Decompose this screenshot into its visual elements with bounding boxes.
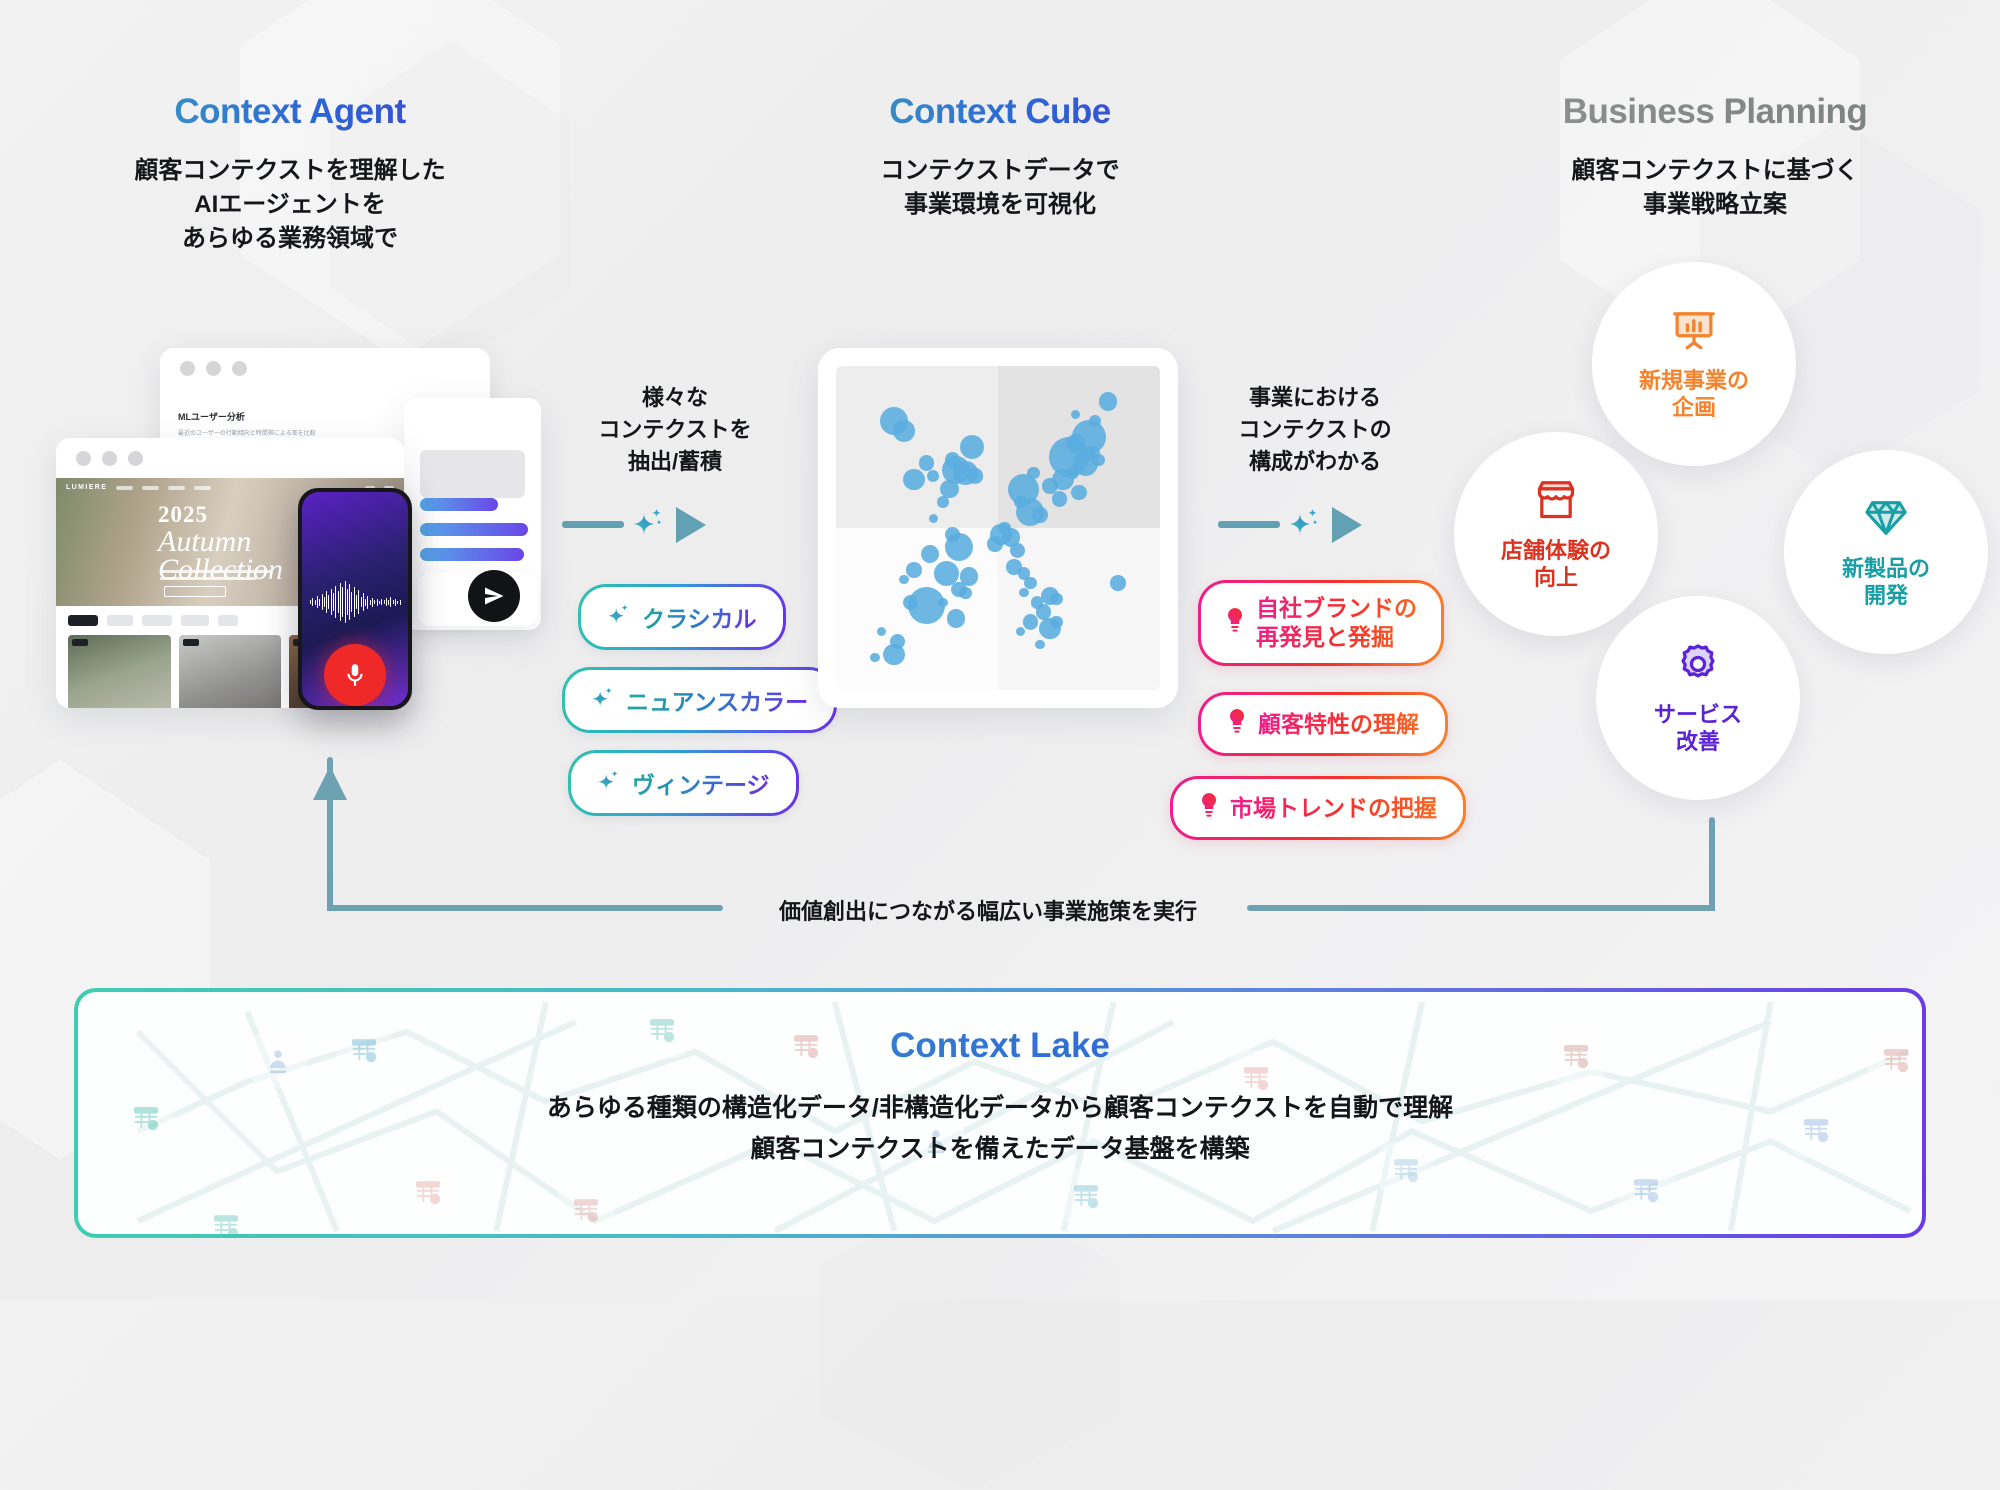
hero-cta-button[interactable]: [164, 586, 226, 597]
scatter-bubble: [1035, 640, 1044, 649]
scatter-bubble: [1039, 618, 1061, 640]
insight-tag-label: 自社ブランドの 再発見と発掘: [1256, 594, 1417, 652]
context-tag-label: クラシカル: [642, 600, 757, 634]
microphone-icon[interactable]: [324, 644, 386, 706]
outcome-circle-new-business-planning[interactable]: 新規事業の 企画: [1592, 262, 1796, 466]
context-tag-label: ニュアンスカラー: [626, 683, 808, 717]
product-badge: [72, 639, 88, 646]
nav-item[interactable]: [194, 486, 211, 490]
scatter-bubble: [938, 598, 947, 607]
feedback-arrow-head: [313, 766, 347, 800]
network-node-table-icon: [400, 1164, 456, 1220]
arrow-label-cube-to-planning: 事業における コンテクストの 構成がわかる: [1200, 382, 1430, 478]
insight-tag-label: 顧客特性の理解: [1258, 710, 1419, 739]
lightbulb-icon: [1227, 708, 1247, 740]
gear-icon: [1675, 641, 1721, 693]
context-lake-subtitle: あらゆる種類の構造化データ/非構造化データから顧客コンテクストを自動で理解 顧客…: [78, 1088, 1922, 1169]
scatter-bubble: [1032, 507, 1048, 523]
traffic-light-close-icon: [76, 451, 91, 466]
scatter-bubble: [1019, 588, 1028, 597]
bubble-scatter-chart: [836, 366, 1160, 690]
traffic-light-maximize-icon: [128, 451, 143, 466]
column-header-context-cube: Context Cube コンテクストデータで 事業環境を可視化: [790, 92, 1210, 222]
diamond-icon: [1863, 495, 1909, 547]
product-card[interactable]: [68, 635, 171, 708]
tab-category[interactable]: [107, 615, 133, 626]
outcome-circle-label: サービス 改善: [1654, 701, 1742, 756]
product-badge: [183, 639, 199, 646]
column-subtitle-context-cube: コンテクストデータで 事業環境を可視化: [790, 154, 1210, 222]
presentation-chart-icon: [1671, 307, 1717, 359]
chat-placeholder-block: [420, 450, 525, 498]
network-node-table-icon: [198, 1198, 254, 1238]
context-tag-0[interactable]: クラシカル: [578, 584, 786, 650]
sparkle-icon: [607, 602, 631, 632]
outcome-circle-label: 新規事業の 企画: [1639, 367, 1749, 422]
scatter-bubble: [987, 536, 1003, 552]
network-node-table-icon: [558, 1182, 614, 1238]
arrow-cube-to-planning: [1218, 505, 1362, 544]
scatter-bubble: [1066, 434, 1085, 453]
feedback-loop-label: 価値創出につながる幅広い事業施策を実行: [748, 894, 1228, 926]
scatter-bubble: [883, 644, 905, 666]
scatter-bubble: [1023, 614, 1039, 630]
outcome-circle-label: 店舗体験の 向上: [1501, 537, 1611, 592]
scatter-bubble: [893, 420, 915, 442]
traffic-light-minimize-icon: [206, 361, 221, 376]
scatter-bubble: [870, 653, 879, 662]
outcome-circle-store-experience[interactable]: 店舗体験の 向上: [1454, 432, 1658, 636]
column-header-context-agent: Context Agent 顧客コンテクストを理解した AIエージェントを あら…: [80, 92, 500, 256]
scatter-bubble: [929, 514, 938, 523]
window-titlebar: [56, 438, 404, 478]
insight-tag-label: 市場トレンドの把握: [1230, 794, 1437, 823]
product-card[interactable]: [179, 635, 282, 708]
arrow-shaft: [562, 521, 624, 528]
sparkle-icon: [631, 505, 665, 544]
insight-tag-2[interactable]: 市場トレンドの把握: [1170, 776, 1466, 840]
sparkle-icon: [591, 685, 615, 715]
arrow-head: [1332, 507, 1362, 543]
nav-item[interactable]: [142, 486, 159, 490]
phone-screen: [302, 492, 408, 706]
voice-assistant-phone-mock: [298, 488, 412, 710]
lightbulb-icon: [1225, 607, 1245, 639]
send-icon[interactable]: [468, 570, 520, 622]
page-title-context-cube: Context Cube: [790, 92, 1210, 132]
context-cube-card: [818, 348, 1178, 708]
scatter-bubble: [1052, 491, 1068, 507]
tab-category[interactable]: [142, 615, 172, 626]
page-title-business-planning: Business Planning: [1495, 92, 1935, 132]
tab-category[interactable]: [218, 615, 238, 626]
scatter-bubble: [959, 587, 971, 599]
network-node-table-icon: [1618, 1162, 1674, 1218]
sparkle-icon: [597, 768, 621, 798]
window-titlebar: [160, 348, 490, 388]
insight-tag-0[interactable]: 自社ブランドの 再発見と発掘: [1198, 580, 1444, 666]
scatter-bubble: [1027, 467, 1039, 479]
scatter-bubble: [998, 522, 1010, 534]
outcome-circle-service-improvement[interactable]: サービス 改善: [1596, 596, 1800, 800]
context-lake-panel: Context Lake あらゆる種類の構造化データ/非構造化データから顧客コン…: [74, 988, 1926, 1238]
arrow-head: [676, 507, 706, 543]
scatter-bubble: [1110, 575, 1126, 591]
traffic-light-minimize-icon: [102, 451, 117, 466]
scatter-bubble: [1092, 454, 1104, 466]
traffic-light-maximize-icon: [232, 361, 247, 376]
arrow-agent-to-cube: [562, 505, 706, 544]
arrow-label-agent-to-cube: 様々な コンテクストを 抽出/蓄積: [560, 382, 790, 478]
scatter-bubble: [1050, 593, 1062, 605]
network-node-table-icon: [1058, 1168, 1114, 1224]
context-lake-content: Context Lake あらゆる種類の構造化データ/非構造化データから顧客コン…: [78, 992, 1922, 1169]
tab-all[interactable]: [68, 615, 98, 626]
column-subtitle-business-planning: 顧客コンテクストに基づく 事業戦略立案: [1495, 154, 1935, 222]
scatter-bubble: [1071, 485, 1087, 501]
page-title-context-agent: Context Agent: [80, 92, 500, 132]
scatter-bubble: [947, 609, 966, 628]
column-header-business-planning: Business Planning 顧客コンテクストに基づく 事業戦略立案: [1495, 92, 1935, 222]
outcome-circle-label: 新製品の 開発: [1842, 555, 1930, 610]
traffic-light-close-icon: [180, 361, 195, 376]
scatter-bubble: [906, 562, 922, 578]
insight-tag-1[interactable]: 顧客特性の理解: [1198, 692, 1448, 756]
scatter-bubble: [968, 468, 984, 484]
nav-item[interactable]: [116, 486, 133, 490]
context-lake-title: Context Lake: [78, 1026, 1922, 1066]
context-tag-label: ヴィンテージ: [632, 766, 770, 800]
context-tag-1[interactable]: ニュアンスカラー: [562, 667, 837, 733]
storefront-icon: [1533, 477, 1579, 529]
sparkle-icon: [1287, 505, 1321, 544]
hero-caption-placeholder: [160, 570, 272, 584]
scatter-bubble: [903, 469, 925, 491]
context-tag-2[interactable]: ヴィンテージ: [568, 750, 799, 816]
column-subtitle-context-agent: 顧客コンテクストを理解した AIエージェントを あらゆる業務領域で: [80, 154, 500, 256]
outcome-circle-new-product-development[interactable]: 新製品の 開発: [1784, 450, 1988, 654]
brand-logo: LUMIERE: [66, 484, 107, 491]
arrow-shaft: [1218, 521, 1280, 528]
lightbulb-icon: [1199, 792, 1219, 824]
nav-item[interactable]: [168, 486, 185, 490]
waveform-visualizer: [310, 580, 400, 624]
tab-category[interactable]: [181, 615, 209, 626]
